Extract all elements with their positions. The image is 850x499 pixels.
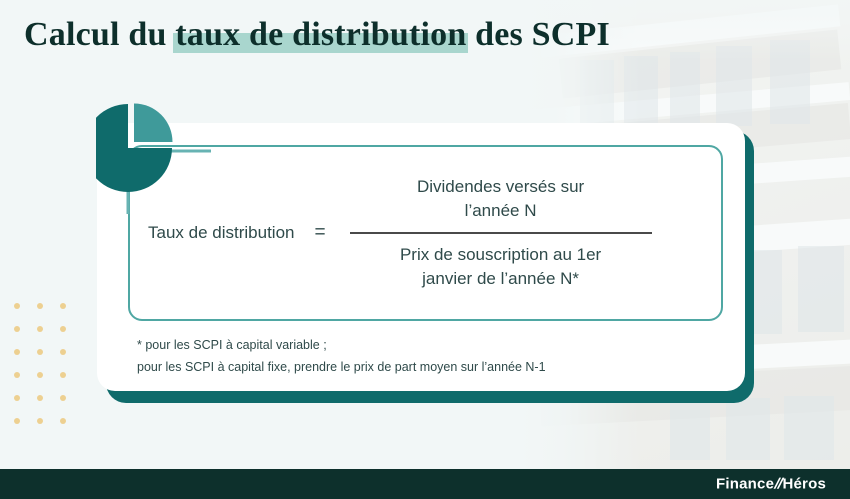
footnote-line-2: pour les SCPI à capital fixe, prendre le…	[137, 357, 546, 379]
photo-window-3	[670, 52, 700, 128]
pie-quarter-slice	[134, 104, 173, 143]
title-part-after: des SCPI	[466, 16, 610, 53]
dot-row	[14, 303, 66, 309]
dot	[60, 418, 66, 424]
footnote: * pour les SCPI à capital variable ; pou…	[137, 335, 546, 378]
dot	[37, 395, 43, 401]
formula-denominator-line2: janvier de l’année N*	[422, 267, 579, 291]
photo-window-11	[670, 400, 710, 460]
decorative-dot-grid	[14, 303, 66, 441]
logo-text-finance: Finance	[716, 476, 774, 493]
formula-numerator-line1: Dividendes versés sur	[417, 175, 584, 199]
formula-left-label: Taux de distribution	[148, 223, 300, 243]
photo-window-10	[798, 246, 844, 332]
fraction-bar	[350, 232, 652, 234]
dot	[14, 395, 20, 401]
dot	[14, 372, 20, 378]
dot-row	[14, 326, 66, 332]
dot	[14, 349, 20, 355]
title-part-before: Calcul du	[24, 16, 175, 53]
formula-numerator-line2: l’année N	[465, 199, 537, 223]
dot	[60, 326, 66, 332]
formula-fraction: Dividendes versés sur l’année N Prix de …	[346, 175, 656, 291]
formula-box: Taux de distribution = Dividendes versés…	[128, 145, 723, 321]
dot	[60, 349, 66, 355]
dot	[37, 303, 43, 309]
photo-window-13	[784, 396, 834, 460]
formula-equals-sign: =	[300, 222, 345, 244]
formula-denominator-line1: Prix de souscription au 1er	[400, 243, 601, 267]
distribution-rate-formula: Taux de distribution = Dividendes versés…	[130, 147, 721, 319]
photo-window-12	[726, 398, 770, 460]
dot-row	[14, 349, 66, 355]
slide-canvas: Calcul du taux de distribution des SCPI …	[0, 0, 850, 499]
pie-chart-icon	[96, 96, 211, 214]
dot-row	[14, 372, 66, 378]
dot	[60, 303, 66, 309]
dot	[37, 418, 43, 424]
dot	[60, 372, 66, 378]
footer-bar: Finance//Héros	[0, 469, 850, 499]
dot	[37, 349, 43, 355]
title-highlight: taux de distribution	[175, 16, 466, 54]
page-title: Calcul du taux de distribution des SCPI	[24, 16, 610, 54]
dot-row	[14, 418, 66, 424]
dot	[60, 395, 66, 401]
brand-logo: Finance//Héros	[716, 476, 826, 493]
logo-text-heros: Héros	[782, 476, 826, 493]
dot	[37, 372, 43, 378]
dot	[14, 418, 20, 424]
dot	[14, 303, 20, 309]
footnote-line-1: * pour les SCPI à capital variable ;	[137, 335, 546, 357]
dot	[37, 326, 43, 332]
dot-row	[14, 395, 66, 401]
dot	[14, 326, 20, 332]
